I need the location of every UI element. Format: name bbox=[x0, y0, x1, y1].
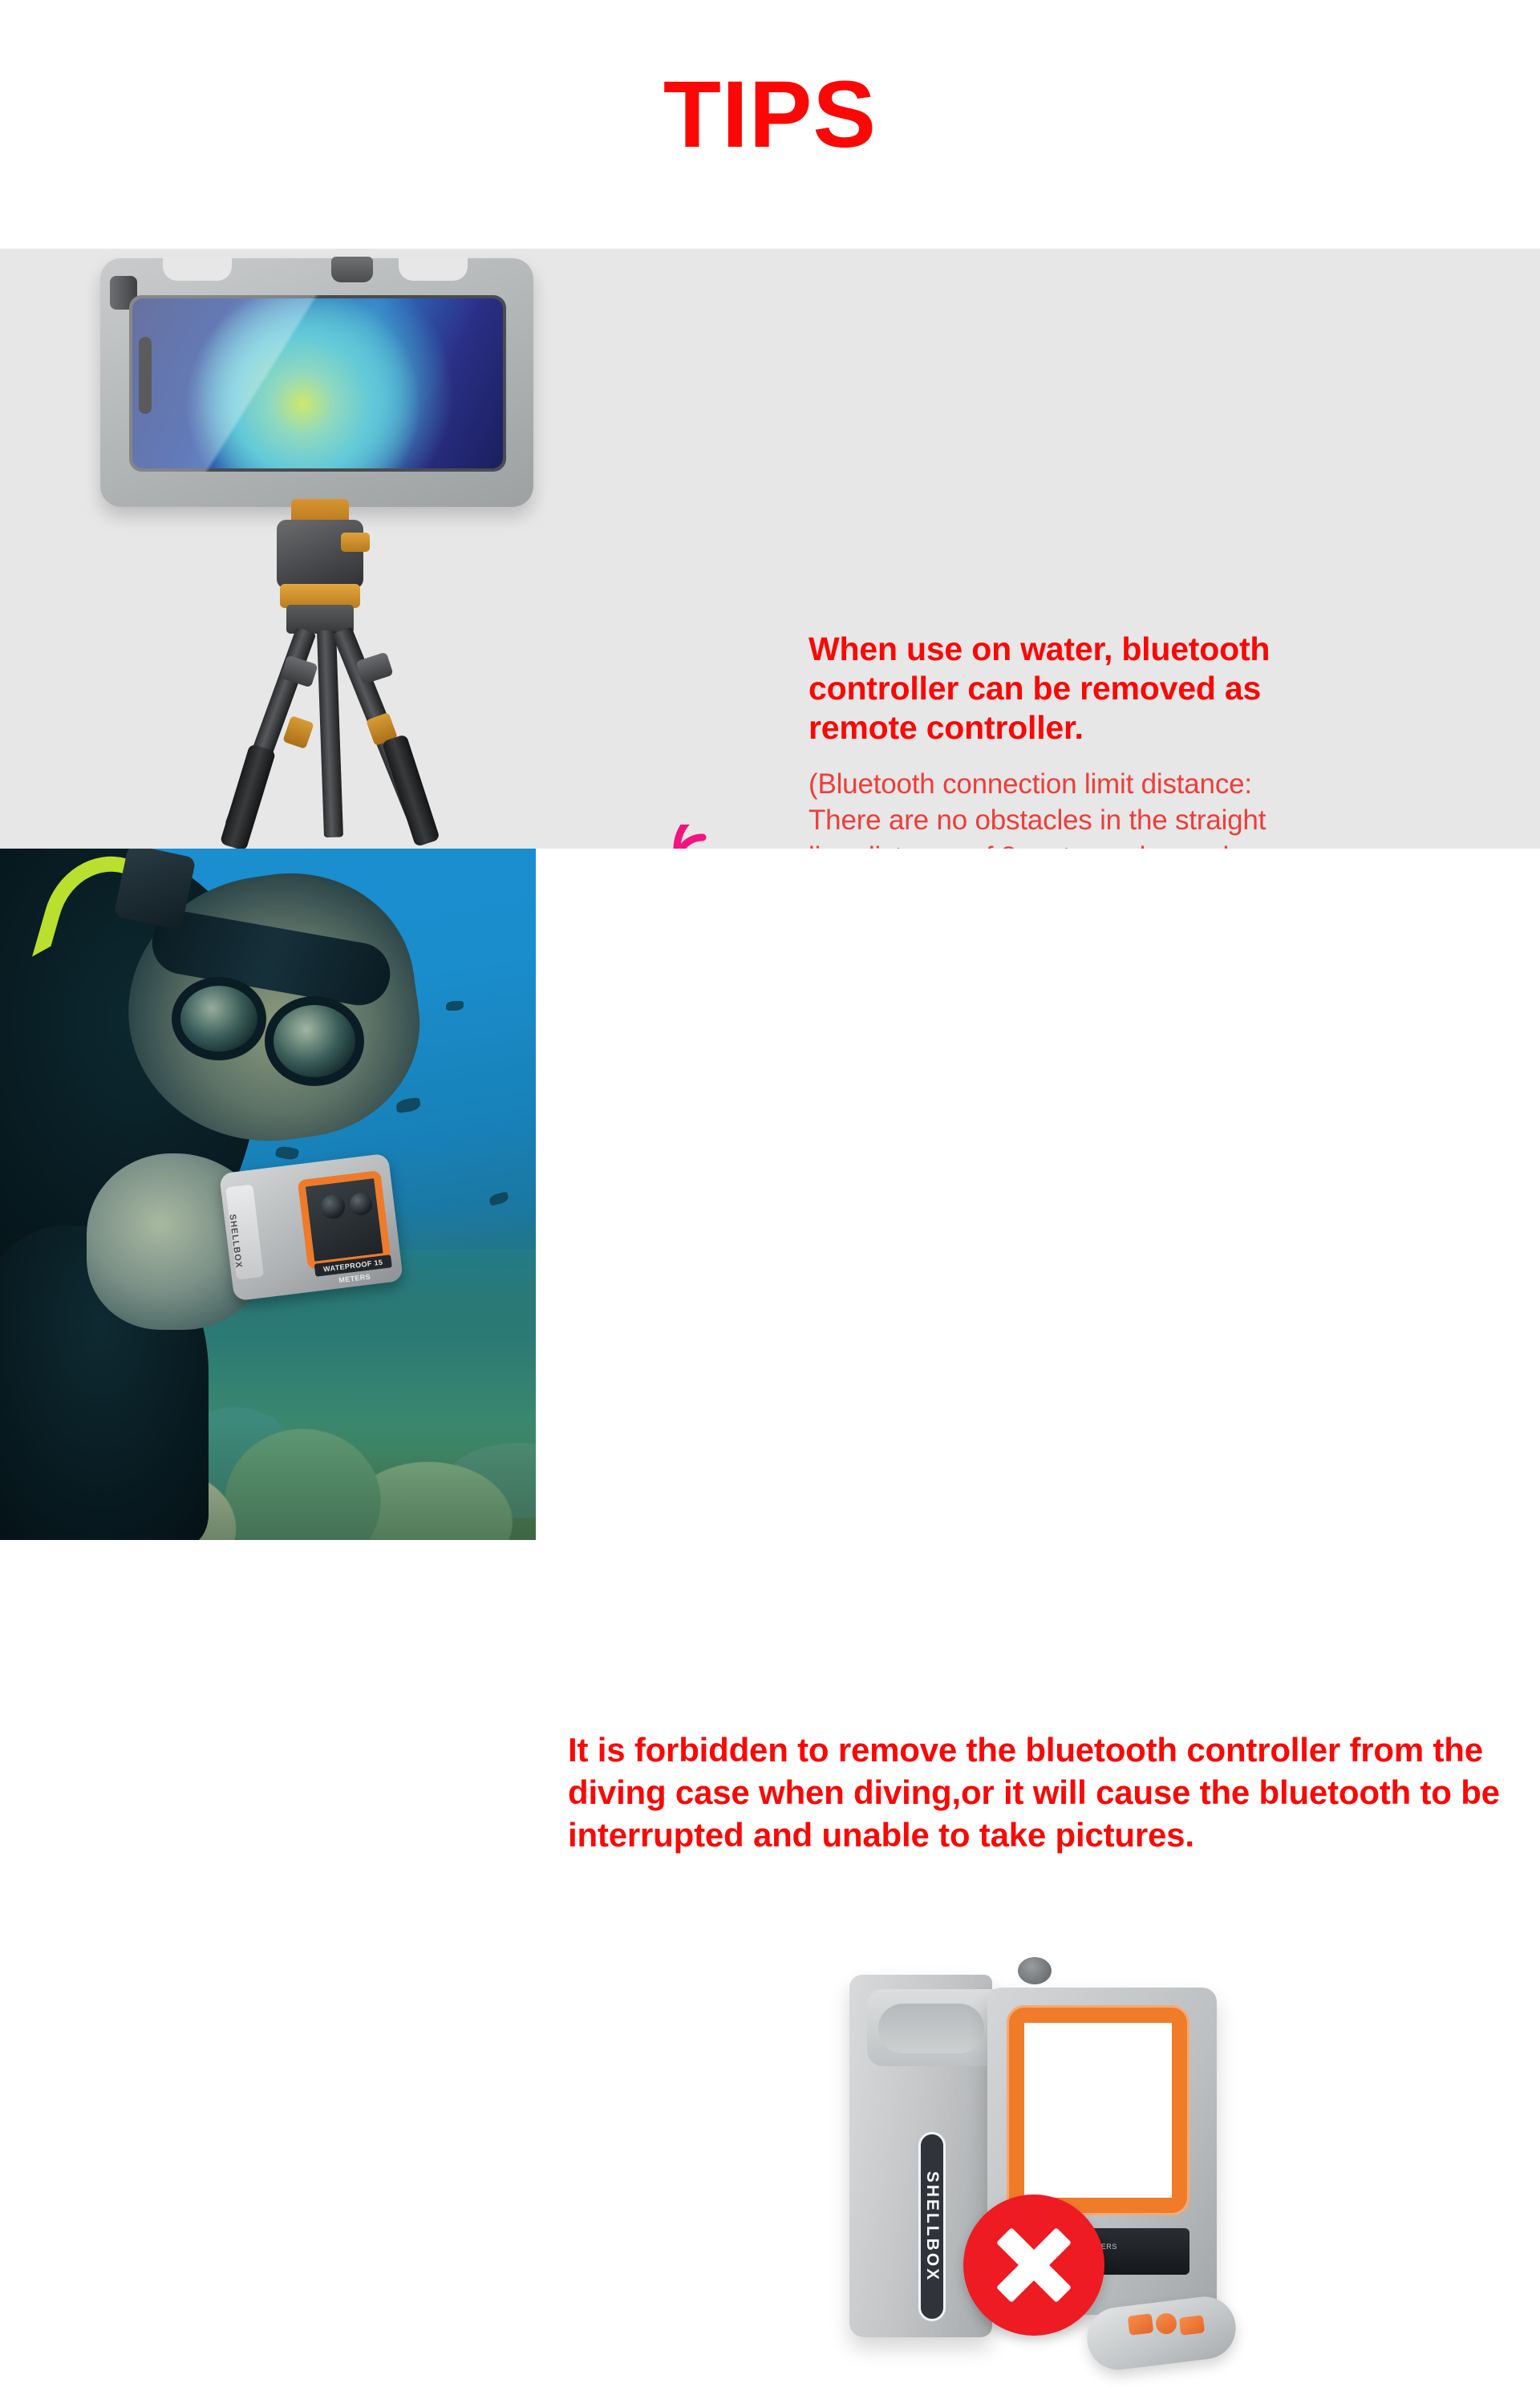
mini-remote-button bbox=[1179, 2315, 1205, 2335]
tripod-ball-head bbox=[277, 520, 363, 589]
phone-bezel bbox=[129, 295, 506, 472]
detached-bluetooth-remote bbox=[1087, 2291, 1244, 2379]
dive-mask-lens bbox=[172, 977, 266, 1060]
brand-badge-label: SHELLBOX bbox=[922, 2171, 942, 2282]
bottom-text-block: It is forbidden to remove the bluetooth … bbox=[568, 1729, 1514, 1857]
tripod-leg-joint bbox=[282, 715, 314, 749]
camera-lens bbox=[348, 1192, 373, 1217]
bottom-heading: It is forbidden to remove the bluetooth … bbox=[568, 1729, 1514, 1857]
tripod-leg-foam-grip bbox=[382, 734, 440, 847]
page-title: TIPS bbox=[0, 67, 1540, 162]
camera-lens bbox=[319, 1193, 346, 1220]
top-tip-panel: When use on water, bluetooth controller … bbox=[0, 249, 1540, 849]
case-controller-slot bbox=[878, 2004, 984, 2053]
underwater-case-in-hand: SHELLBOX WATEPROOF 15 METERS bbox=[219, 1153, 403, 1302]
forbidden-x-icon bbox=[963, 2194, 1104, 2336]
glass-glare bbox=[129, 295, 506, 472]
tripod-leg-foam-grip bbox=[220, 744, 277, 849]
diving-case-product-render: SHELLBOX WATERPROOF 15 METERS bbox=[846, 1954, 1263, 2387]
tripod-leg bbox=[317, 630, 343, 838]
wireless-signal-icon bbox=[671, 825, 730, 849]
page-header: TIPS bbox=[0, 0, 1540, 249]
fish bbox=[446, 1001, 464, 1011]
case-grip: SHELLBOX bbox=[225, 1185, 264, 1280]
top-body-text: (Bluetooth connection limit distance: Th… bbox=[808, 766, 1290, 849]
case-notch-left bbox=[163, 257, 232, 281]
case-grip-text: SHELLBOX bbox=[227, 1214, 243, 1269]
mini-remote-shutter-button bbox=[1156, 2313, 1177, 2334]
case-camera-window bbox=[298, 1170, 391, 1270]
dive-mask-lens bbox=[265, 996, 364, 1086]
case-knob-top-icon bbox=[331, 257, 373, 282]
ball-head-screw-icon bbox=[341, 533, 370, 552]
bottom-tip-panel: SHELLBOX WATEPROOF 15 METERS It is forbi… bbox=[0, 849, 1540, 1540]
brand-badge: SHELLBOX bbox=[918, 2132, 946, 2321]
case-lens-window-frame bbox=[1007, 2005, 1189, 2215]
waterproof-phone-case bbox=[100, 258, 533, 507]
case-lock-knob-icon bbox=[1018, 1957, 1052, 1984]
scuba-diver-underwater-photo: SHELLBOX WATEPROOF 15 METERS bbox=[0, 849, 536, 1540]
case-notch-right bbox=[399, 257, 468, 281]
top-text-block: When use on water, bluetooth controller … bbox=[808, 630, 1290, 849]
mini-remote-button bbox=[1128, 2313, 1154, 2335]
bluetooth-remote-controller bbox=[513, 825, 730, 849]
top-heading: When use on water, bluetooth controller … bbox=[808, 630, 1290, 748]
phone-case-tripod-illustration bbox=[76, 249, 590, 844]
